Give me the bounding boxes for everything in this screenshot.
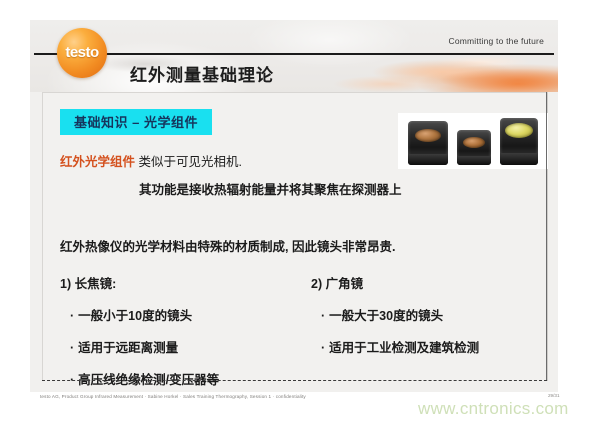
body-paragraph: 红外热像仪的光学材料由特殊的材质制成, 因此镜头非常昂贵.	[60, 236, 395, 255]
intro-line-2: 其功能是接收热辐射能量并将其聚焦在探测器上	[139, 183, 402, 199]
lens-photo-standard	[457, 130, 491, 165]
slide-header: testo Committing to the future	[30, 20, 558, 92]
footer-credit: testo AG, Product Group Infrared Measure…	[40, 394, 306, 399]
column-heading: 2) 广角镜	[311, 273, 541, 292]
header-rule	[34, 53, 554, 55]
column-wideangle: 2) 广角镜 一般大于30度的镜头 适用于工业检测及建筑检测	[311, 273, 541, 356]
presentation-slide: testo Committing to the future 红外测量基础理论 …	[30, 20, 558, 392]
slide-canvas: testo Committing to the future 红外测量基础理论 …	[0, 0, 600, 424]
header-flame-graphic	[268, 44, 558, 92]
intro-rest-text: 类似于可见光相机.	[139, 155, 242, 169]
lens-photo-wideangle	[500, 118, 538, 165]
brand-tagline: Committing to the future	[448, 36, 544, 46]
panel-bottom-dashed-border	[42, 380, 547, 381]
page-title: 红外测量基础理论	[130, 61, 274, 86]
list-item: 一般小于10度的镜头	[60, 305, 300, 324]
section-badge: 基础知识 – 光学组件	[60, 109, 212, 135]
page-number: 29/31	[548, 393, 560, 398]
testo-logo-text: testo	[57, 45, 107, 60]
list-item: 适用于工业检测及建筑检测	[311, 337, 541, 356]
intro-emphasis-text: 红外光学组件	[60, 155, 135, 169]
lens-photo-group	[398, 113, 548, 169]
list-item: 适用于远距离测量	[60, 337, 300, 356]
header-flame-graphic-secondary	[358, 60, 558, 92]
watermark-url: www.cntronics.com	[418, 399, 569, 419]
column-telephoto: 1) 长焦镜: 一般小于10度的镜头 适用于远距离测量 高压线绝缘检测/变压器等	[60, 273, 300, 388]
slide-body-panel: 基础知识 – 光学组件	[42, 92, 548, 381]
column-heading: 1) 长焦镜:	[60, 273, 300, 292]
lens-photo-telephoto	[408, 121, 448, 165]
intro-line-1: 红外光学组件 类似于可见光相机.	[60, 155, 242, 171]
list-item: 高压线绝缘检测/变压器等	[60, 369, 300, 388]
list-item: 一般大于30度的镜头	[311, 305, 541, 324]
panel-right-border	[546, 92, 547, 381]
